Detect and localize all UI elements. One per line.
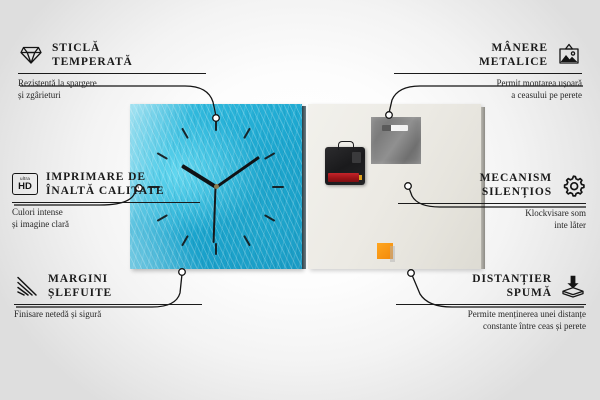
clock-glass-edge <box>302 106 306 269</box>
ultra-hd-badge: ultra HD <box>12 173 38 195</box>
callout-header: MECANISM SILENȚIOS <box>398 171 586 199</box>
callout-divider <box>396 304 586 305</box>
clock-center-cap <box>214 184 219 189</box>
clock-tick <box>243 127 251 138</box>
callout-description: Finisare netedă și sigură <box>14 308 202 320</box>
clock-tick <box>215 243 217 255</box>
callout-divider <box>18 73 206 74</box>
callout-distantier-spuma: DISTANȚIER SPUMĂ Permite menținerea unei… <box>396 272 586 333</box>
product-feature-infographic: STICLĂ TEMPERATĂ Rezistentă la spargere … <box>0 0 600 400</box>
clock-tick <box>272 186 284 188</box>
callout-description: Rezistentă la spargere și zgârieturi <box>18 77 206 101</box>
ultra-hd-main-label: HD <box>18 182 32 192</box>
callout-description: Permite menținerea unei distanțe constan… <box>396 308 586 332</box>
foam-spacer-icon <box>560 273 586 299</box>
battery <box>328 173 359 182</box>
hanging-frame-icon <box>556 42 582 68</box>
clock-minute-hand <box>215 155 259 187</box>
hanger-slot <box>382 125 408 131</box>
movement-hook <box>338 141 354 150</box>
metal-hanger-plate <box>371 117 421 164</box>
callout-header: DISTANȚIER SPUMĂ <box>396 272 586 300</box>
callout-imprimare-hd: ultra HD IMPRIMARE DE ÎNALTĂ CALITATE Cu… <box>12 170 200 231</box>
foam-spacer-pad <box>377 243 393 259</box>
callout-divider <box>14 304 202 305</box>
clock-second-hand <box>213 186 216 242</box>
callout-sticla-temperata: STICLĂ TEMPERATĂ Rezistentă la spargere … <box>18 41 206 102</box>
callout-title: DISTANȚIER SPUMĂ <box>472 272 552 300</box>
clock-tick <box>264 214 275 222</box>
clock-tick <box>243 234 251 245</box>
callout-description: Culori intense și imagine clară <box>12 206 200 230</box>
callout-header: ultra HD IMPRIMARE DE ÎNALTĂ CALITATE <box>12 170 200 198</box>
callout-manere-metalice: MÂNERE METALICE Permit montarea ușoară a… <box>394 41 582 102</box>
clock-tick <box>215 119 217 131</box>
callout-title: MECANISM SILENȚIOS <box>480 171 552 199</box>
callout-divider <box>398 203 586 204</box>
callout-title: IMPRIMARE DE ÎNALTĂ CALITATE <box>46 170 164 198</box>
clock-tick <box>181 234 189 245</box>
clock-tick <box>181 127 189 138</box>
callout-header: MARGINI ȘLEFUITE <box>14 272 202 300</box>
diamond-icon <box>18 42 44 68</box>
gear-icon <box>560 172 586 198</box>
callout-mecanism-silentios: MECANISM SILENȚIOS Klockvisare som inte … <box>398 171 586 232</box>
callout-title: MARGINI ȘLEFUITE <box>48 272 112 300</box>
clock-tick <box>264 152 275 160</box>
callout-divider <box>394 73 582 74</box>
callout-header: MÂNERE METALICE <box>394 41 582 69</box>
clock-movement <box>325 147 365 185</box>
callout-header: STICLĂ TEMPERATĂ <box>18 41 206 69</box>
movement-notch <box>352 152 361 163</box>
callout-divider <box>12 202 200 203</box>
callout-margini-slefuite: MARGINI ȘLEFUITE Finisare netedă și sigu… <box>14 272 202 320</box>
ultra-hd-icon: ultra HD <box>12 171 38 197</box>
polished-edges-icon <box>14 273 40 299</box>
callout-title: STICLĂ TEMPERATĂ <box>52 41 133 69</box>
callout-description: Klockvisare som inte låter <box>398 207 586 231</box>
callout-description: Permit montarea ușoară a ceasului pe per… <box>394 77 582 101</box>
callout-title: MÂNERE METALICE <box>479 41 548 69</box>
clock-tick <box>157 152 168 160</box>
